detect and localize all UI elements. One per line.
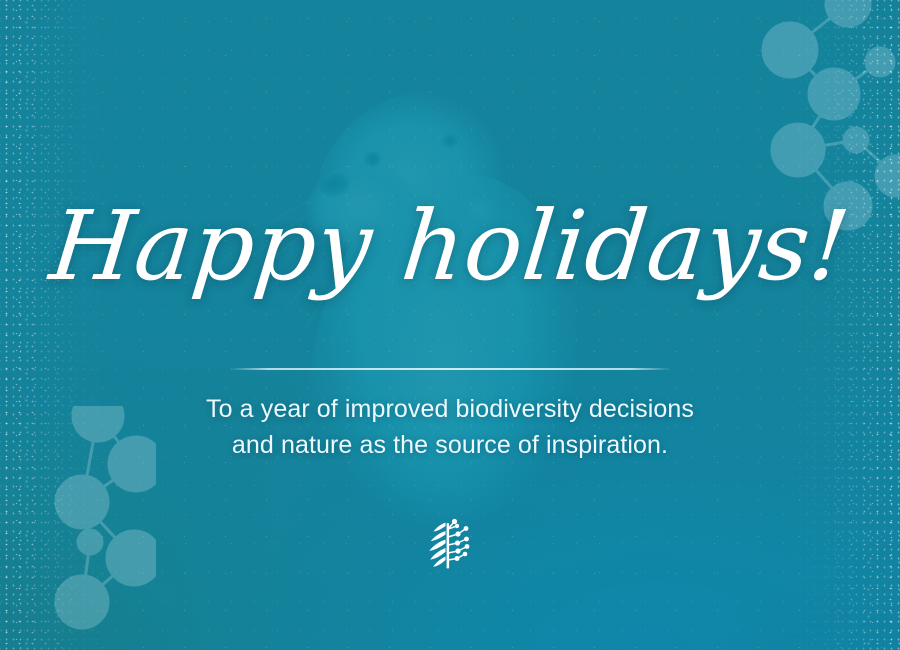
subtitle-line-2: and nature as the source of inspiration.	[232, 431, 668, 459]
card-content: Happy holidays! To a year of improved bi…	[0, 0, 900, 650]
fern-network-logo	[424, 515, 476, 571]
holiday-greeting-card: Happy holidays! To a year of improved bi…	[0, 0, 900, 650]
divider-rule	[229, 368, 671, 370]
subtitle-line-1: To a year of improved biodiversity decis…	[206, 395, 694, 423]
headline-happy-holidays: Happy holidays!	[0, 196, 900, 297]
subtitle-message: To a year of improved biodiversity decis…	[0, 392, 900, 463]
